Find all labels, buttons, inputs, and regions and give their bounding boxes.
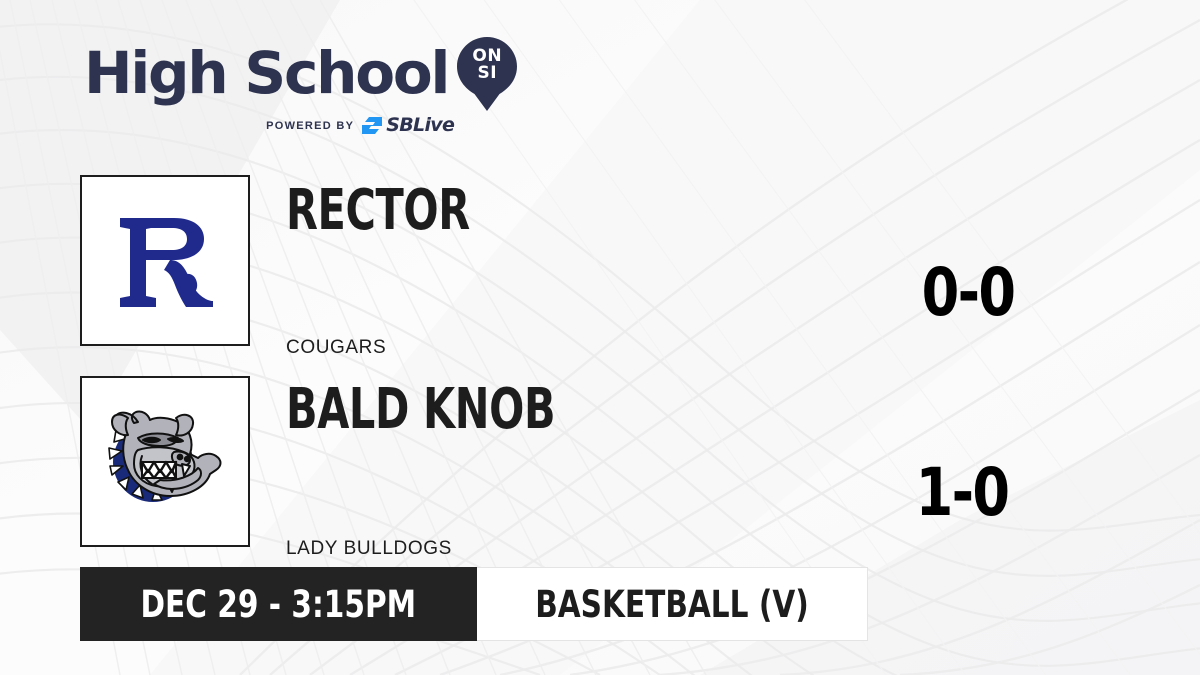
- page-title: High School: [84, 44, 448, 102]
- event-sport-chip: BASKETBALL (V): [477, 567, 868, 641]
- away-team-mascot: COUGARS: [286, 337, 386, 359]
- event-datetime-text: DEC 29 - 3:15PM: [140, 586, 416, 623]
- away-team-record: 0-0: [894, 260, 1042, 326]
- sblive-wordmark: SBLive: [386, 116, 454, 135]
- away-team-name: RECTOR: [286, 183, 470, 239]
- sblive-s-icon: [361, 116, 383, 135]
- home-team-mascot: LADY BULLDOGS: [286, 538, 452, 560]
- event-info-bar: DEC 29 - 3:15PM BASKETBALL (V): [80, 567, 868, 641]
- powered-by-row: POWERED BY SBLive: [84, 116, 518, 135]
- powered-by-label: POWERED BY: [266, 120, 354, 132]
- away-team-logo: [80, 175, 250, 346]
- home-team-logo: [80, 376, 250, 547]
- map-pin-icon: ON SI: [456, 36, 518, 112]
- home-team-record: 1-0: [888, 460, 1036, 526]
- brand-header: High School ON SI POWERED BY SBLive: [84, 34, 518, 135]
- onsi-badge-text: ON SI: [456, 48, 518, 82]
- brand-title-row: High School ON SI: [84, 34, 518, 112]
- event-sport-text: BASKETBALL (V): [535, 586, 809, 623]
- home-team-name: BALD KNOB: [286, 382, 555, 438]
- event-datetime-chip: DEC 29 - 3:15PM: [80, 567, 477, 641]
- sblive-logo: SBLive: [361, 116, 454, 135]
- onsi-line-si: SI: [456, 65, 518, 82]
